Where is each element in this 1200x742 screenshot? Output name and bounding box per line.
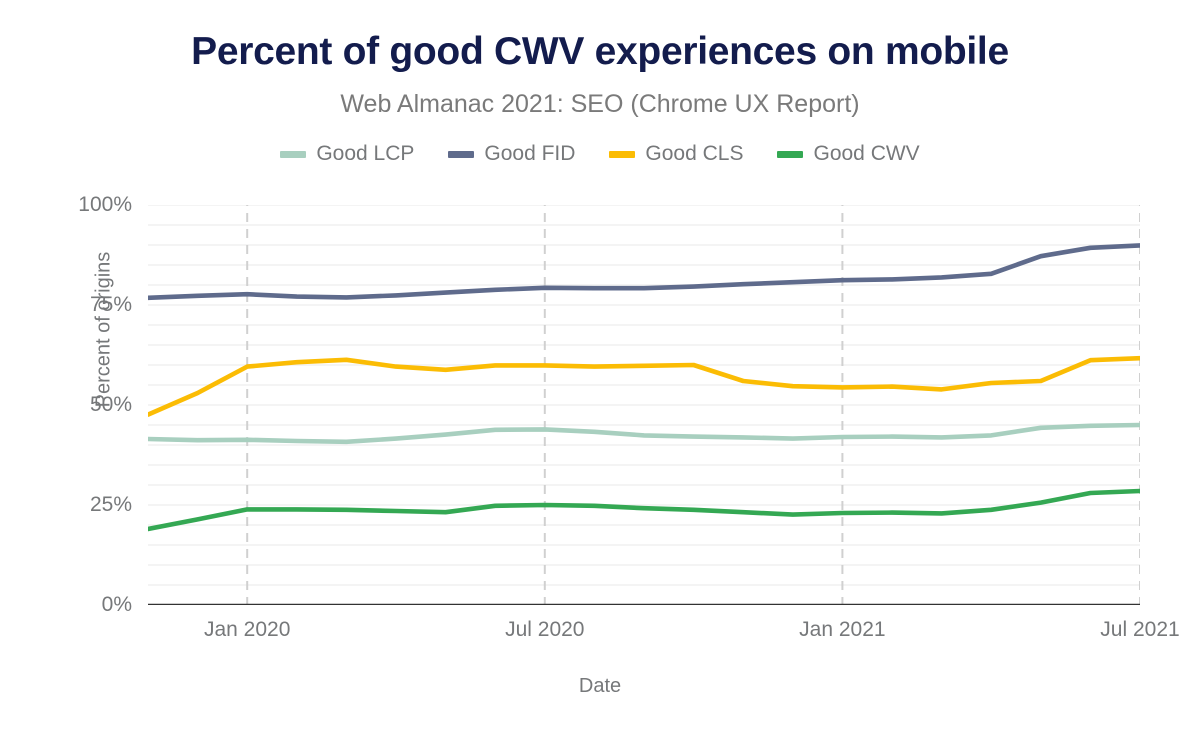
y-tick-label: 75%: [32, 293, 132, 317]
x-tick-label: Jul 2020: [505, 618, 584, 642]
legend-swatch-icon: [609, 151, 635, 158]
legend-item[interactable]: Good CWV: [777, 142, 919, 166]
page-title: Percent of good CWV experiences on mobil…: [0, 30, 1200, 74]
x-tick-label: Jan 2021: [799, 618, 885, 642]
plot-svg: [148, 205, 1140, 605]
data-series-line[interactable]: [148, 491, 1140, 529]
x-tick-label: Jul 2021: [1100, 618, 1179, 642]
x-tick-label: Jan 2020: [204, 618, 290, 642]
chart-figure: Percent of good CWV experiences on mobil…: [0, 0, 1200, 742]
chart-legend: Good LCPGood FIDGood CLSGood CWV: [0, 142, 1200, 166]
legend-swatch-icon: [448, 151, 474, 158]
x-axis-title: Date: [0, 675, 1200, 698]
y-tick-label: 25%: [32, 493, 132, 517]
data-series-line[interactable]: [148, 425, 1140, 442]
plot-area: [148, 205, 1140, 605]
legend-item[interactable]: Good LCP: [280, 142, 414, 166]
legend-item[interactable]: Good FID: [448, 142, 575, 166]
y-tick-label: 0%: [32, 593, 132, 617]
legend-label: Good LCP: [316, 142, 414, 166]
y-tick-label: 50%: [32, 393, 132, 417]
legend-label: Good FID: [484, 142, 575, 166]
data-series-line[interactable]: [148, 358, 1140, 414]
chart-subtitle: Web Almanac 2021: SEO (Chrome UX Report): [0, 90, 1200, 119]
legend-item[interactable]: Good CLS: [609, 142, 743, 166]
x-axis-tick-labels: Jan 2020Jul 2020Jan 2021Jul 2021: [148, 618, 1140, 646]
y-tick-label: 100%: [32, 193, 132, 217]
legend-swatch-icon: [280, 151, 306, 158]
data-series-line[interactable]: [148, 245, 1140, 297]
legend-swatch-icon: [777, 151, 803, 158]
legend-label: Good CLS: [645, 142, 743, 166]
y-axis-tick-labels: 0%25%50%75%100%: [28, 205, 132, 605]
legend-label: Good CWV: [813, 142, 919, 166]
